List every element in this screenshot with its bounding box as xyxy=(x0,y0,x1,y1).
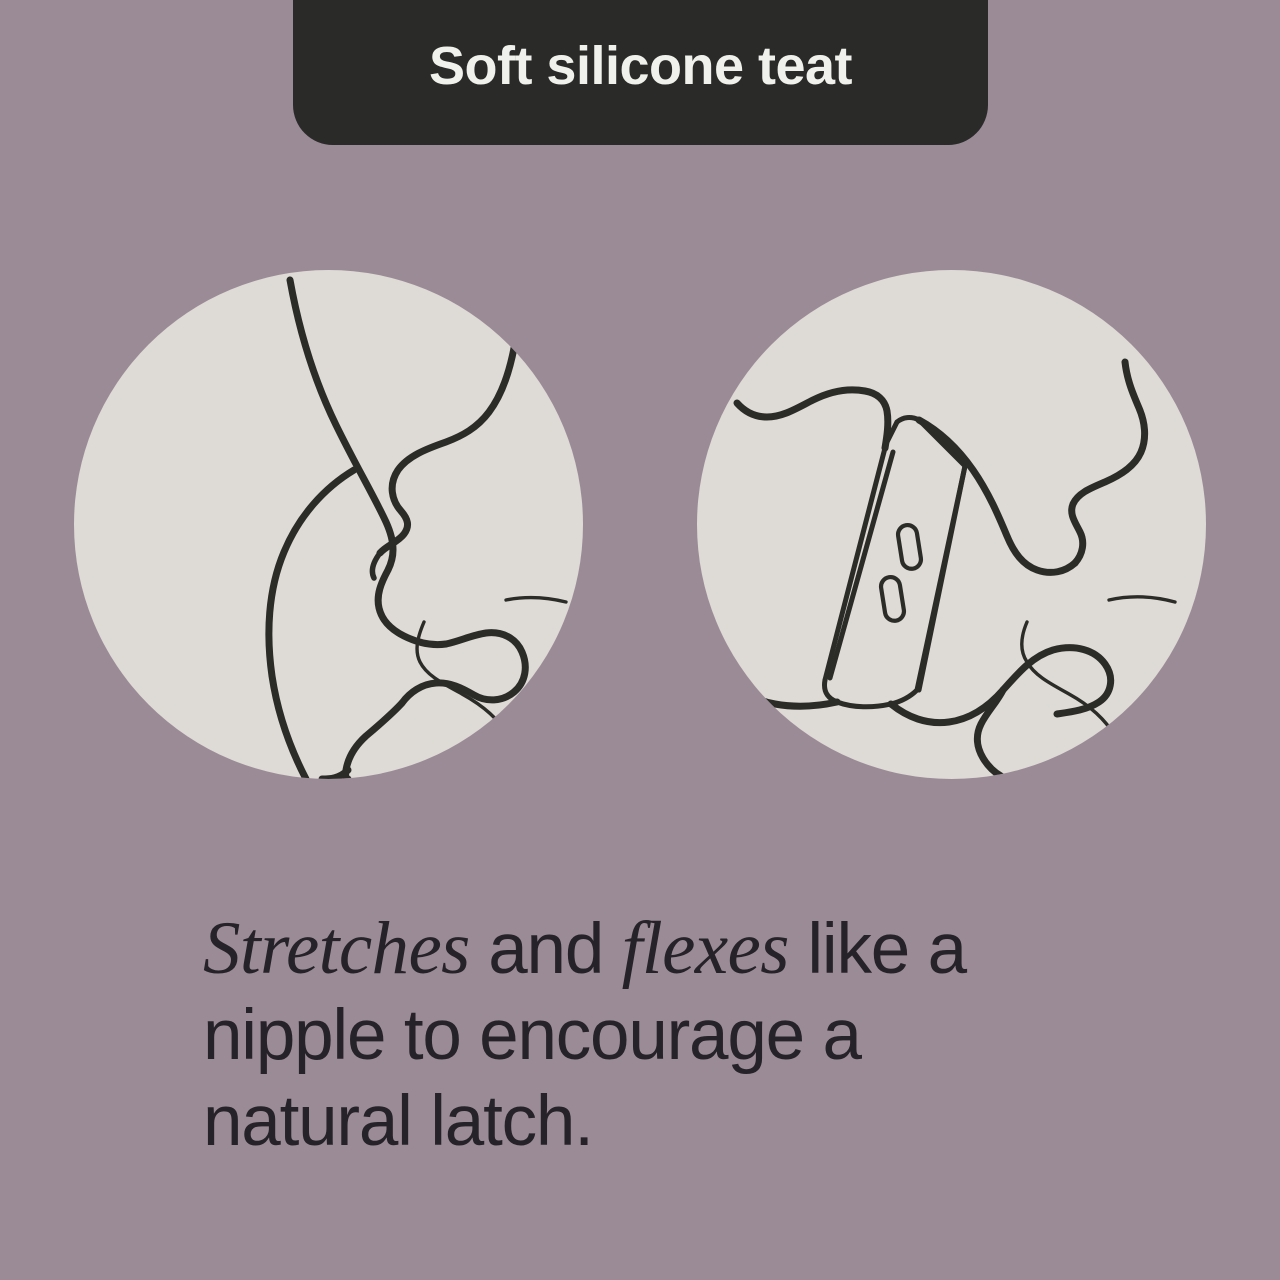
teat-latch-line-art xyxy=(697,270,1206,779)
product-feature-card: Soft silicone teat xyxy=(0,0,1280,1280)
caption-line1-mid: and xyxy=(470,910,622,989)
illustration-teat-latch xyxy=(697,270,1206,779)
breast-latch-line-art xyxy=(74,270,583,779)
illustration-row xyxy=(0,270,1280,780)
teat-vent-slot xyxy=(897,524,923,570)
teat-vent-slot xyxy=(880,576,906,622)
page-title: Soft silicone teat xyxy=(429,39,852,93)
illustration-breast-latch xyxy=(74,270,583,779)
caption-line-3: natural latch. xyxy=(203,1079,1103,1165)
caption-line-2: nipple to encourage a xyxy=(203,993,1103,1079)
caption-block: Stretches and flexes like a nipple to en… xyxy=(203,906,1103,1165)
caption-emphasis-stretches: Stretches xyxy=(203,907,470,990)
caption-line-1: Stretches and flexes like a xyxy=(203,906,1103,993)
header-badge: Soft silicone teat xyxy=(293,0,988,145)
caption-line1-end: like a xyxy=(789,910,966,989)
caption-emphasis-flexes: flexes xyxy=(622,907,789,990)
